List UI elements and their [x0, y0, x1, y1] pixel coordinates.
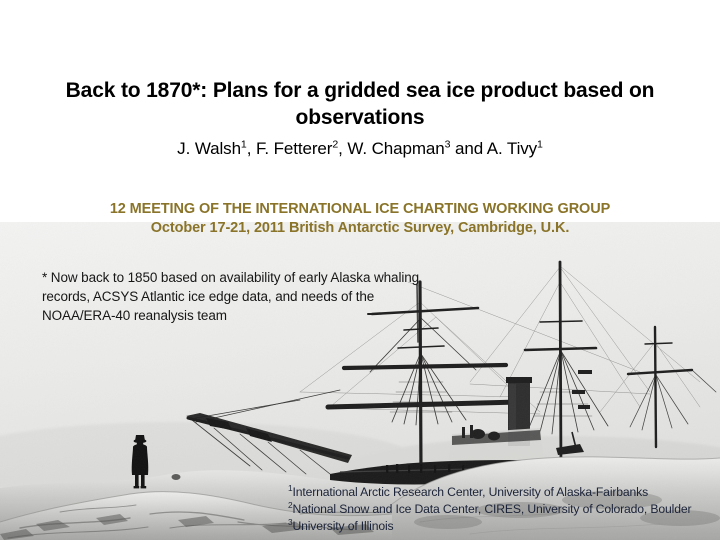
author-3-name: W. Chapman [347, 139, 444, 158]
author-4-affiliation-marker: 1 [537, 138, 543, 150]
presentation-slide: Back to 1870*: Plans for a gridded sea i… [0, 0, 720, 540]
author-separator-2: , [338, 139, 347, 158]
title-line-1: Back to 1870*: Plans for a gridded sea i… [66, 79, 624, 102]
page-title: Back to 1870*: Plans for a gridded sea i… [0, 78, 720, 132]
affiliation-1: 1International Arctic Research Center, U… [288, 484, 713, 501]
author-separator-3: and [450, 139, 486, 158]
author-2-name: F. Fetterer [256, 139, 332, 158]
footnote-text: * Now back to 1850 based on availability… [42, 268, 562, 325]
affiliation-list: 1International Arctic Research Center, U… [288, 484, 713, 534]
author-4-name: A. Tivy [487, 139, 537, 158]
author-list: J. Walsh1, F. Fetterer2, W. Chapman3 and… [0, 139, 720, 159]
meeting-date-location: October 17-21, 2011 British Antarctic Su… [0, 219, 720, 238]
affiliation-2-text: National Snow and Ice Data Center, CIRES… [292, 502, 691, 516]
footnote-line-2: records, ACSYS Atlantic ice edge data, a… [42, 287, 562, 306]
footnote-line-1: * Now back to 1850 based on availability… [42, 268, 562, 287]
meeting-title: 12 MEETING OF THE INTERNATIONAL ICE CHAR… [0, 200, 720, 219]
affiliation-3: 3University of Illinois [288, 518, 713, 535]
affiliation-1-text: International Arctic Research Center, Un… [292, 485, 648, 499]
footnote-line-3: NOAA/ERA-40 reanalysis team [42, 306, 562, 325]
meeting-heading: 12 MEETING OF THE INTERNATIONAL ICE CHAR… [0, 200, 720, 238]
author-1-name: J. Walsh [177, 139, 241, 158]
affiliation-3-text: University of Illinois [292, 519, 393, 533]
affiliation-2: 2National Snow and Ice Data Center, CIRE… [288, 501, 713, 518]
author-separator-1: , [247, 139, 256, 158]
title-block: Back to 1870*: Plans for a gridded sea i… [0, 78, 720, 159]
